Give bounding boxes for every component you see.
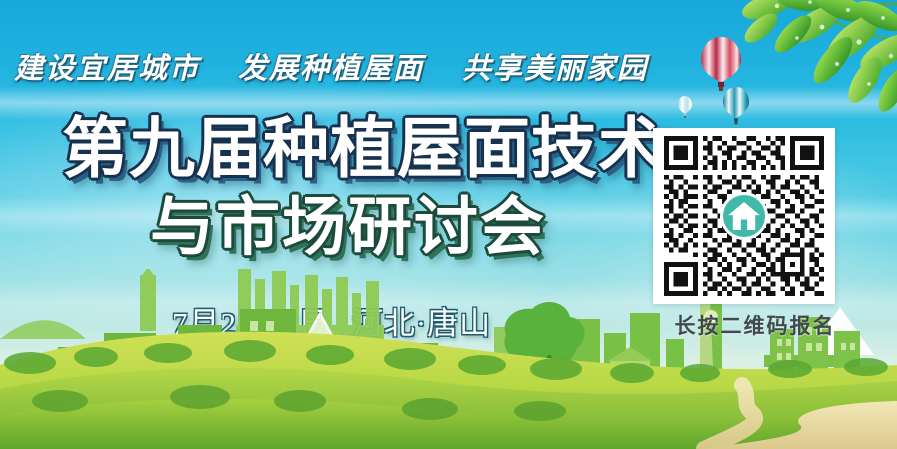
tagline-part-3: 共享美丽家园 [462,45,648,87]
hot-air-balloon-teal-icon [722,86,750,126]
hot-air-balloon-white-icon [677,95,693,119]
qr-caption: 长按二维码报名 [655,310,855,340]
tagline: 建设宜居城市 发展种植屋面 共享美丽家园 [14,44,674,88]
event-poster: 建设宜居城市 发展种植屋面 共享美丽家园 第九届种植屋面技术 与市场研讨会 7月… [0,0,897,449]
poster-title: 第九届种植屋面技术 与市场研讨会 [0,116,660,260]
house-icon [723,195,765,237]
tagline-part-2: 发展种植屋面 [238,45,424,87]
title-line-2: 与市场研讨会 [0,196,660,260]
title-line-1: 第九届种植屋面技术 [0,116,660,182]
qr-code[interactable] [653,128,835,304]
tagline-part-1: 建设宜居城市 [14,45,200,87]
